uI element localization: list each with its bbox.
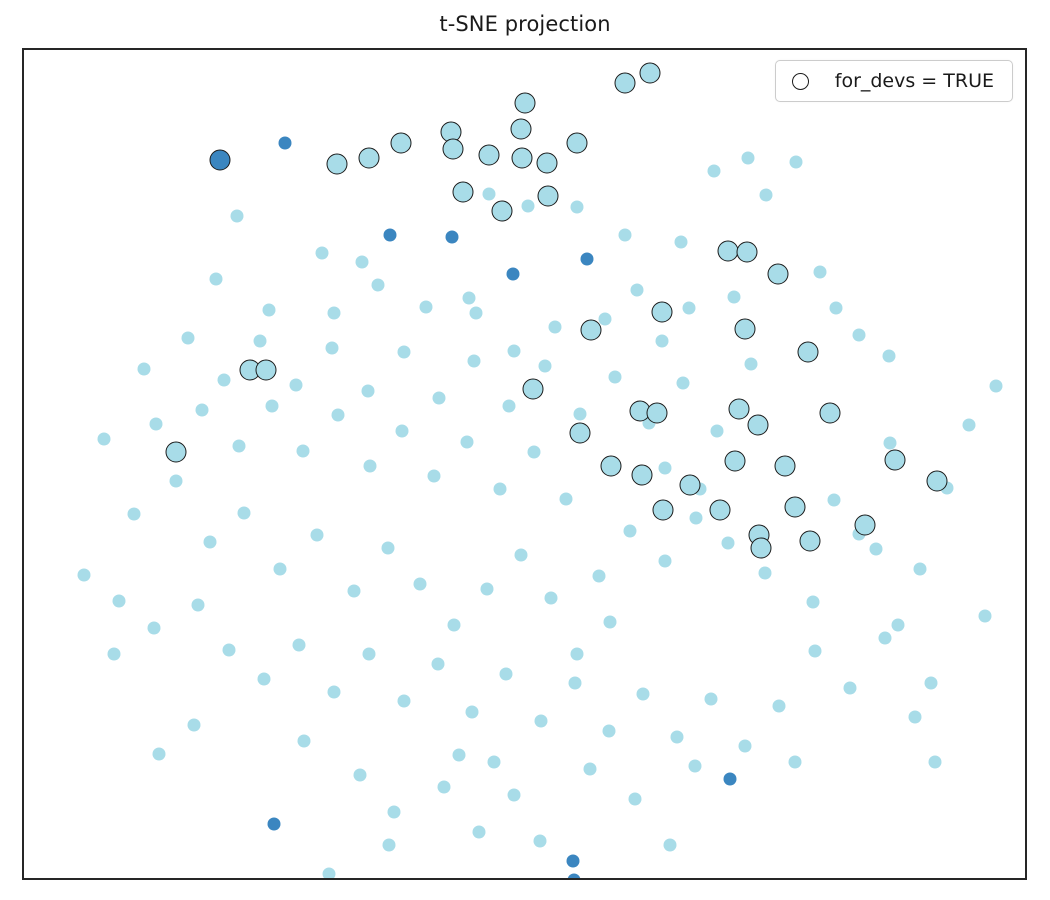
scatter-point-highlighted — [652, 499, 673, 520]
scatter-point — [570, 201, 583, 214]
scatter-point — [674, 236, 687, 249]
scatter-point — [223, 644, 236, 657]
scatter-point — [461, 435, 474, 448]
scatter-point — [323, 867, 336, 880]
scatter-point — [453, 749, 466, 762]
scatter-point — [623, 525, 636, 538]
scatter-point — [113, 594, 126, 607]
scatter-point — [658, 462, 671, 475]
scatter-point — [78, 568, 91, 581]
scatter-point-highlighted — [646, 402, 667, 423]
scatter-point-highlighted — [717, 241, 738, 262]
scatter-point — [603, 616, 616, 629]
scatter-point — [883, 437, 896, 450]
scatter-point-highlighted — [166, 441, 187, 462]
scatter-point — [670, 731, 683, 744]
scatter-point — [204, 535, 217, 548]
scatter-point — [928, 756, 941, 769]
scatter-point — [658, 554, 671, 567]
scatter-point — [852, 328, 865, 341]
scatter-point — [978, 610, 991, 623]
scatter-point — [463, 292, 476, 305]
scatter-point — [598, 313, 611, 326]
scatter-point — [192, 598, 205, 611]
scatter-point — [98, 433, 111, 446]
scatter-point-highlighted — [651, 302, 672, 323]
scatter-point — [150, 418, 163, 431]
scatter-point — [263, 303, 276, 316]
scatter-point — [878, 631, 891, 644]
scatter-point — [432, 658, 445, 671]
scatter-point — [274, 563, 287, 576]
scatter-point — [508, 345, 521, 358]
scatter-point — [538, 360, 551, 373]
scatter-point — [494, 482, 507, 495]
scatter-point-highlighted — [614, 73, 635, 94]
scatter-point-highlighted — [724, 450, 745, 471]
scatter-point — [297, 444, 310, 457]
scatter-point-highlighted — [512, 148, 533, 169]
scatter-point — [827, 494, 840, 507]
scatter-point — [362, 385, 375, 398]
scatter-point — [254, 335, 267, 348]
scatter-point — [688, 760, 701, 773]
scatter-point — [710, 424, 723, 437]
scatter-point — [363, 648, 376, 661]
scatter-point — [704, 693, 717, 706]
scatter-point — [332, 409, 345, 422]
scatter-point-highlighted — [511, 118, 532, 139]
scatter-point — [630, 284, 643, 297]
page-title: t-SNE projection — [0, 12, 1050, 36]
scatter-point — [446, 231, 459, 244]
scatter-point — [398, 694, 411, 707]
scatter-point — [328, 307, 341, 320]
plot-area: for_devs = TRUE — [22, 48, 1027, 880]
scatter-point — [548, 321, 561, 334]
legend[interactable]: for_devs = TRUE — [775, 60, 1013, 102]
scatter-point — [891, 618, 904, 631]
scatter-point — [488, 756, 501, 769]
scatter-point — [806, 596, 819, 609]
scatter-point — [396, 424, 409, 437]
scatter-point — [772, 699, 785, 712]
scatter-point — [238, 506, 251, 519]
scatter-point-highlighted — [443, 138, 464, 159]
scatter-point — [188, 718, 201, 731]
scatter-point — [170, 474, 183, 487]
scatter-point — [515, 549, 528, 562]
scatter-point — [808, 645, 821, 658]
scatter-point-highlighted — [536, 152, 557, 173]
scatter-point — [481, 583, 494, 596]
scatter-point — [521, 200, 534, 213]
scatter-point — [356, 255, 369, 268]
scatter-point — [233, 439, 246, 452]
scatter-point — [388, 805, 401, 818]
scatter-point — [573, 408, 586, 421]
scatter-point — [328, 685, 341, 698]
scatter-point — [759, 188, 772, 201]
scatter-point — [448, 619, 461, 632]
scatter-point — [508, 789, 521, 802]
scatter-point-highlighted — [774, 455, 795, 476]
scatter-point — [153, 747, 166, 760]
scatter-point — [438, 780, 451, 793]
scatter-point — [570, 648, 583, 661]
scatter-point — [466, 706, 479, 719]
scatter-point — [682, 301, 695, 314]
scatter-point — [602, 724, 615, 737]
scatter-point — [567, 874, 580, 880]
scatter-point — [689, 511, 702, 524]
scatter-point-highlighted — [359, 148, 380, 169]
scatter-point — [372, 279, 385, 292]
scatter-point — [258, 673, 271, 686]
scatter-point — [721, 536, 734, 549]
scatter-point — [533, 834, 546, 847]
scatter-point — [843, 681, 856, 694]
scatter-point — [138, 362, 151, 375]
scatter-point — [383, 838, 396, 851]
scatter-point — [924, 676, 937, 689]
scatter-point-highlighted — [522, 378, 543, 399]
scatter-point-highlighted — [569, 422, 590, 443]
scatter-point — [398, 346, 411, 359]
scatter-point — [196, 404, 209, 417]
scatter-point — [741, 152, 754, 165]
scatter-point-highlighted — [736, 242, 757, 263]
scatter-point — [420, 300, 433, 313]
scatter-point — [279, 136, 292, 149]
scatter-point — [559, 492, 572, 505]
scatter-point — [507, 267, 520, 280]
scatter-point — [364, 459, 377, 472]
scatter-point — [527, 445, 540, 458]
scatter-point — [738, 739, 751, 752]
scatter-point — [210, 272, 223, 285]
scatter-point — [592, 569, 605, 582]
scatter-point — [789, 155, 802, 168]
scatter-point-highlighted — [210, 150, 231, 171]
scatter-point-highlighted — [453, 182, 474, 203]
scatter-point — [544, 592, 557, 605]
scatter-point — [758, 567, 771, 580]
scatter-point-highlighted — [256, 360, 277, 381]
scatter-point-highlighted — [747, 415, 768, 436]
scatter-point — [298, 735, 311, 748]
scatter-point — [108, 648, 121, 661]
scatter-point-highlighted — [537, 185, 558, 206]
legend-marker-icon — [792, 73, 809, 90]
scatter-point — [311, 529, 324, 542]
scatter-point-highlighted — [327, 154, 348, 175]
scatter-point — [727, 290, 740, 303]
scatter-point — [414, 578, 427, 591]
scatter-point — [788, 756, 801, 769]
scatter-point — [500, 668, 513, 681]
scatter-point-highlighted — [728, 398, 749, 419]
scatter-point — [707, 164, 720, 177]
scatter-point-highlighted — [799, 531, 820, 552]
scatter-point — [483, 188, 496, 201]
scatter-point — [266, 400, 279, 413]
scatter-point — [293, 638, 306, 651]
scatter-point-highlighted — [479, 145, 500, 166]
scatter-point — [663, 838, 676, 851]
scatter-point — [618, 228, 631, 241]
scatter-point — [723, 772, 736, 785]
scatter-point — [348, 584, 361, 597]
scatter-point-highlighted — [797, 342, 818, 363]
legend-label: for_devs = TRUE — [835, 70, 994, 92]
scatter-point-highlighted — [819, 402, 840, 423]
scatter-point-highlighted — [566, 132, 587, 153]
scatter-point — [231, 210, 244, 223]
scatter-point — [568, 677, 581, 690]
scatter-point — [503, 400, 516, 413]
scatter-point — [829, 302, 842, 315]
scatter-point — [628, 793, 641, 806]
scatter-point-highlighted — [514, 92, 535, 113]
scatter-point — [384, 228, 397, 241]
scatter-point — [218, 373, 231, 386]
scatter-point-highlighted — [580, 319, 601, 340]
scatter-point — [534, 714, 547, 727]
scatter-point — [268, 818, 281, 831]
scatter-point — [468, 354, 481, 367]
scatter-point — [182, 332, 195, 345]
scatter-point — [470, 307, 483, 320]
scatter-point-highlighted — [784, 497, 805, 518]
scatter-point-highlighted — [492, 200, 513, 221]
scatter-point-highlighted — [750, 538, 771, 559]
scatter-point — [813, 265, 826, 278]
scatter-points-layer — [24, 50, 1025, 878]
scatter-point — [128, 507, 141, 520]
scatter-point — [148, 621, 161, 634]
scatter-point-highlighted — [679, 474, 700, 495]
scatter-point — [962, 419, 975, 432]
scatter-point — [744, 357, 757, 370]
scatter-point-highlighted — [767, 263, 788, 284]
scatter-point — [566, 855, 579, 868]
scatter-point — [290, 379, 303, 392]
scatter-point — [913, 563, 926, 576]
scatter-point — [989, 380, 1002, 393]
scatter-point — [354, 768, 367, 781]
scatter-point-highlighted — [926, 470, 947, 491]
scatter-point-highlighted — [854, 515, 875, 536]
scatter-point — [326, 342, 339, 355]
scatter-point-highlighted — [391, 132, 412, 153]
scatter-point — [382, 541, 395, 554]
scatter-point — [473, 825, 486, 838]
scatter-point — [583, 762, 596, 775]
scatter-point-highlighted — [631, 464, 652, 485]
scatter-point-highlighted — [600, 456, 621, 477]
scatter-point — [608, 371, 621, 384]
scatter-point — [655, 335, 668, 348]
scatter-point-highlighted — [639, 63, 660, 84]
scatter-point — [433, 391, 446, 404]
scatter-point — [636, 688, 649, 701]
scatter-point — [428, 470, 441, 483]
tsne-scatter-figure: t-SNE projection for_devs = TRUE — [0, 0, 1050, 900]
scatter-point — [882, 349, 895, 362]
scatter-point — [580, 252, 593, 265]
scatter-point — [869, 543, 882, 556]
scatter-point — [316, 246, 329, 259]
scatter-point — [908, 710, 921, 723]
scatter-point-highlighted — [884, 449, 905, 470]
scatter-point — [676, 376, 689, 389]
scatter-point-highlighted — [709, 499, 730, 520]
scatter-point-highlighted — [734, 319, 755, 340]
